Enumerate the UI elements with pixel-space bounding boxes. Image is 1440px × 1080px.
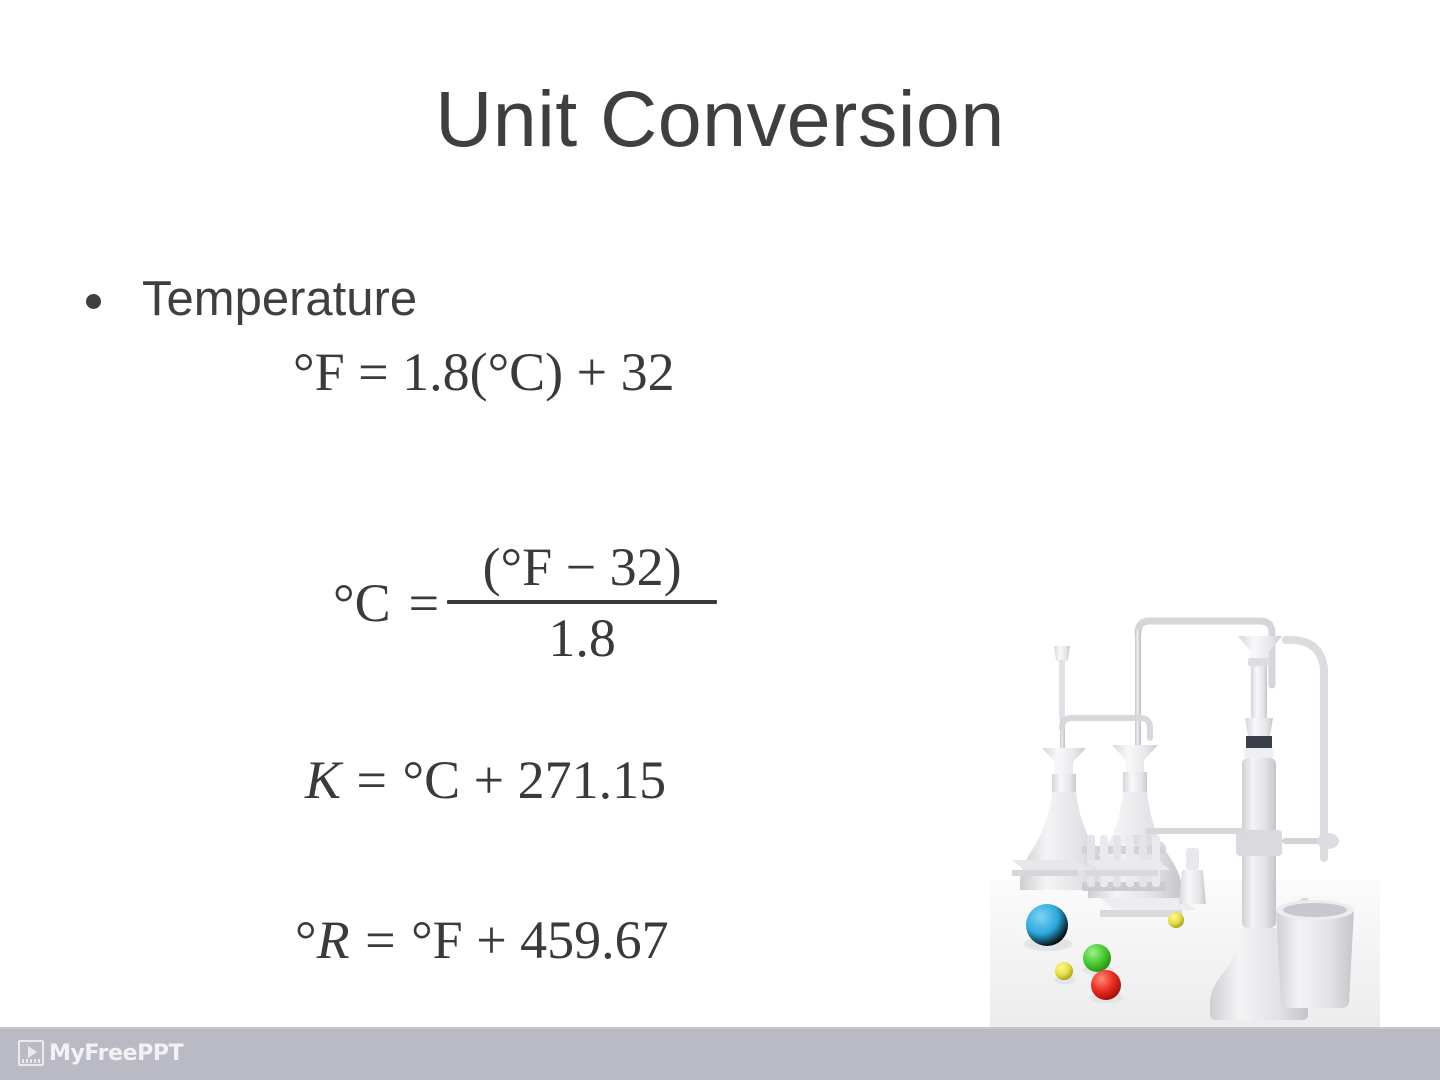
presentation-slide: Unit Conversion Temperature °F = 1.8(°C)… — [0, 0, 1440, 1080]
equation-rankine-lhs-symbol: R — [317, 910, 350, 970]
equation-kelvin-equals: = — [355, 750, 389, 810]
fraction-denominator: 1.8 — [548, 604, 616, 665]
sphere-blue — [1026, 904, 1068, 946]
logo-text: MyFreePPT — [49, 1041, 183, 1066]
fraction-group: (°F − 32) 1.8 — [447, 540, 717, 665]
sphere-red — [1091, 970, 1121, 1000]
bullet-list-item: Temperature — [86, 272, 417, 327]
equation-rankine-equals: = — [363, 910, 397, 970]
equation-celsius-lhs: °C — [333, 576, 407, 630]
equation-rankine-degree: ° — [295, 910, 317, 970]
fraction-numerator: (°F − 32) — [471, 540, 694, 600]
sphere-yellow-right — [1168, 912, 1184, 928]
equation-kelvin-rhs: °C + 271.15 — [403, 750, 667, 810]
sphere-yellow-left — [1055, 962, 1073, 980]
lab-glassware-image — [990, 530, 1380, 1029]
bullet-dot-icon — [86, 294, 101, 309]
equation-rankine-rhs: °F + 459.67 — [411, 910, 669, 970]
equation-rankine: °R = °F + 459.67 — [295, 913, 669, 967]
equation-celsius: °C = (°F − 32) 1.8 — [333, 540, 717, 665]
equation-kelvin-lhs: K — [305, 750, 341, 810]
equation-celsius-equals: = — [407, 576, 441, 630]
bullet-item-label: Temperature — [142, 272, 417, 327]
equation-kelvin: K = °C + 271.15 — [305, 753, 666, 807]
myfreeppt-logo[interactable]: MyFreePPT — [18, 1040, 183, 1066]
footer-bar: MyFreePPT — [0, 1027, 1440, 1080]
play-button-icon — [18, 1040, 44, 1066]
page-title: Unit Conversion — [0, 78, 1440, 161]
equation-fahrenheit: °F = 1.8(°C) + 32 — [293, 345, 675, 399]
sphere-green — [1083, 944, 1111, 972]
